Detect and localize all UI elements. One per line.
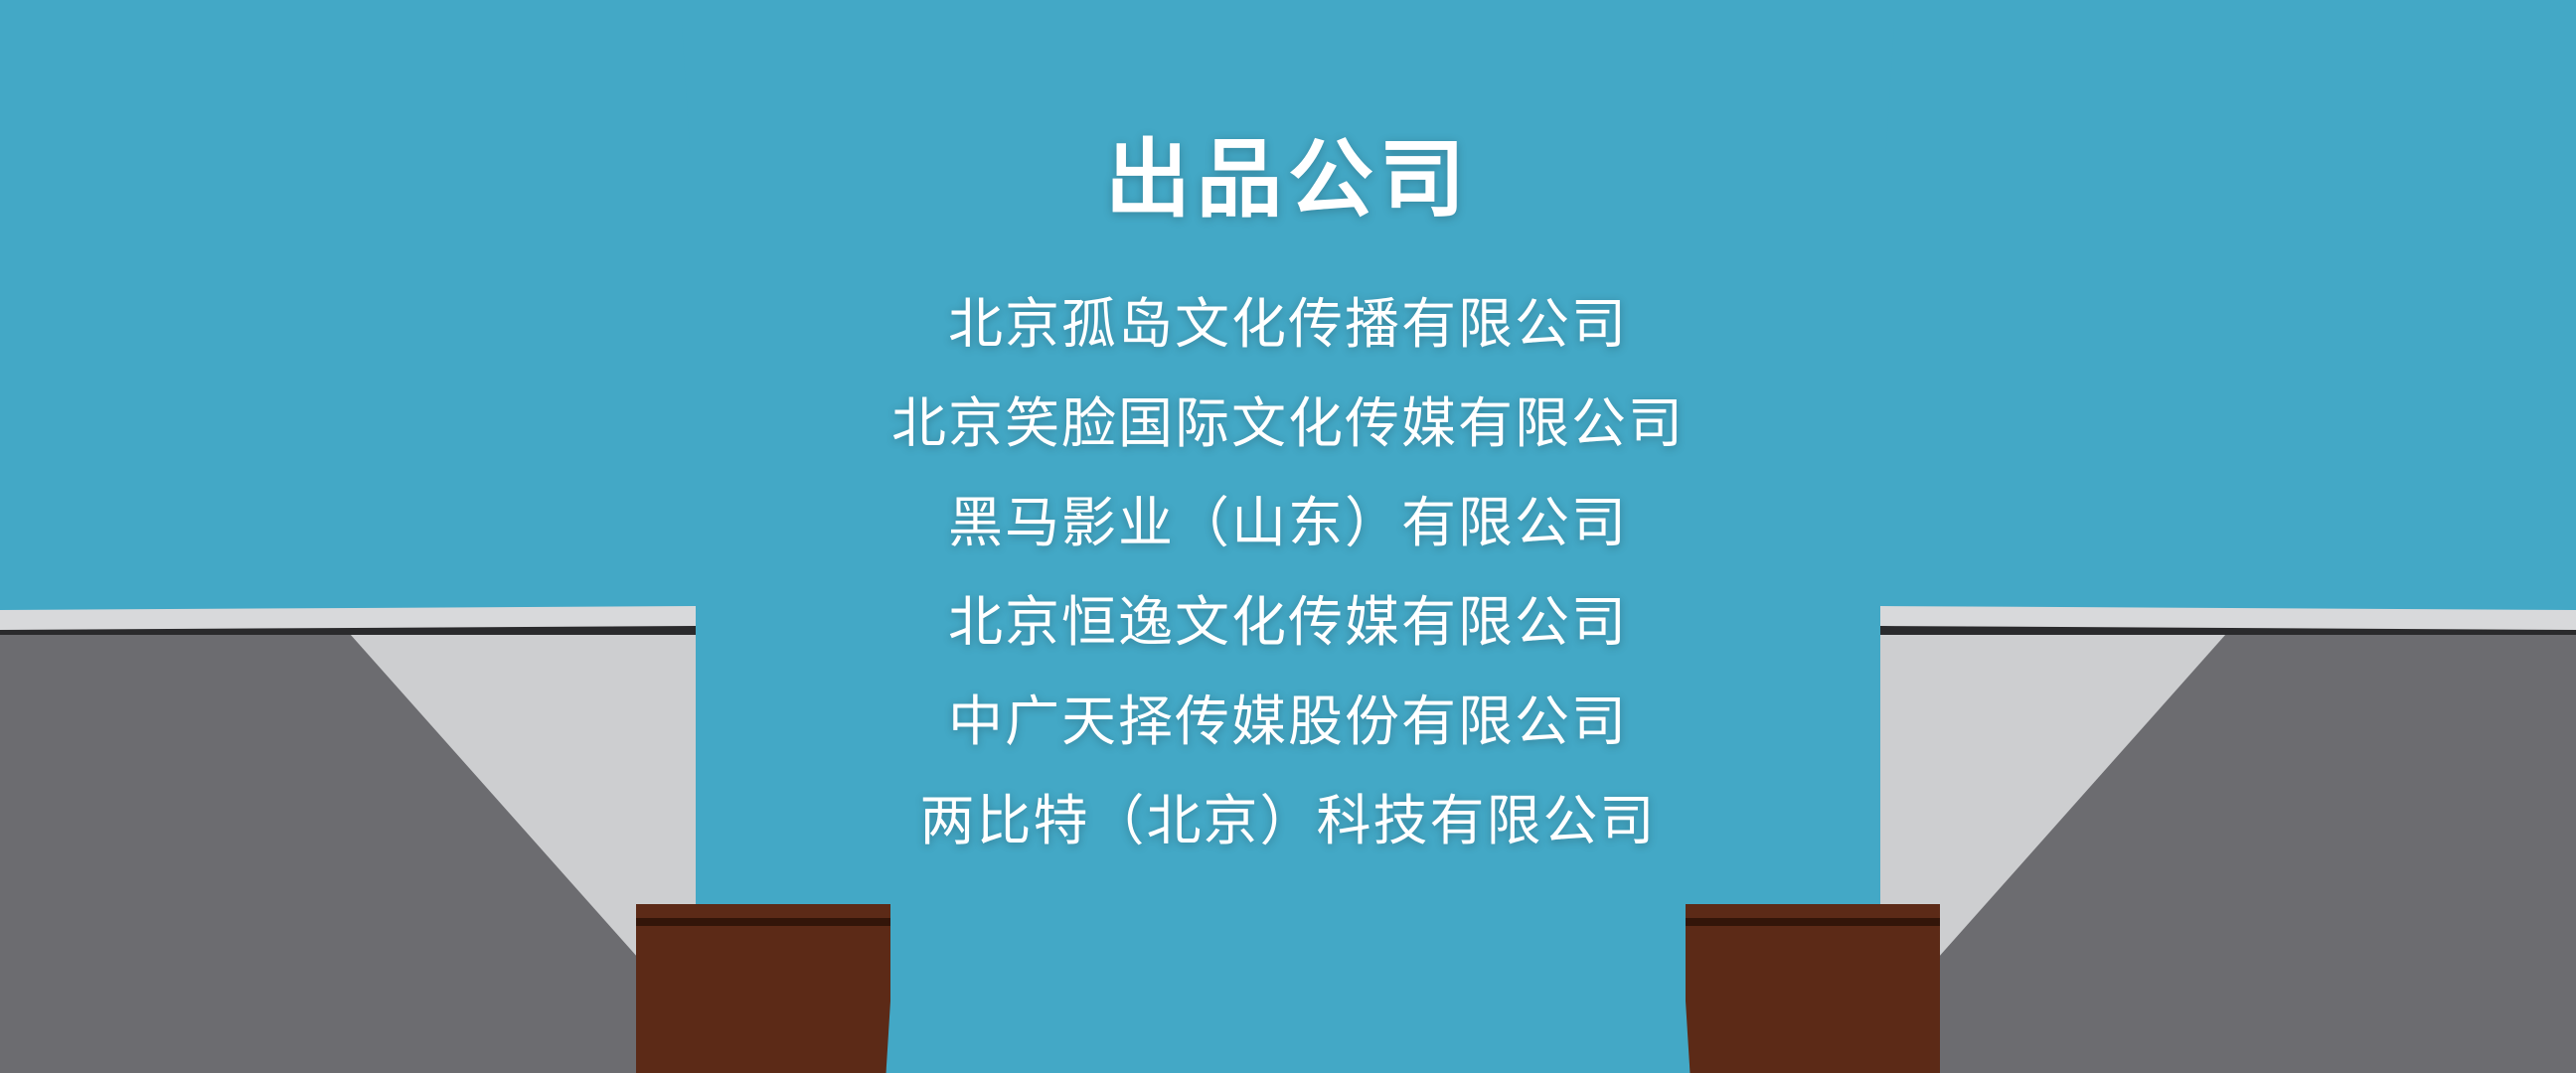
brown-wall-top-line-right	[1684, 918, 1940, 926]
brown-wall-right	[1680, 904, 1940, 1073]
building-right	[1880, 606, 2576, 1073]
video-frame: 出品公司 北京孤岛文化传播有限公司 北京笑脸国际文化传媒有限公司 黑马影业（山东…	[0, 0, 2576, 1073]
brown-wall-top-line-left	[636, 918, 892, 926]
brown-wall-left	[636, 904, 896, 1073]
center-sky-gap	[890, 904, 1686, 1073]
building-left	[0, 606, 696, 1073]
